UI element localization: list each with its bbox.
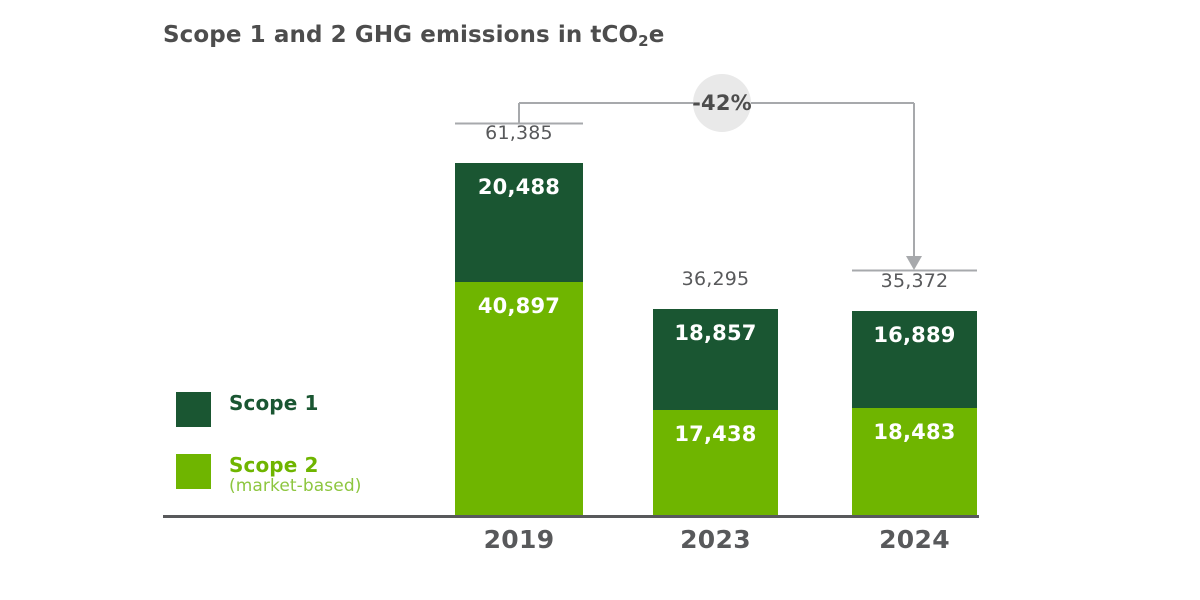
bar-segment-scope1[interactable]: 18,857 bbox=[653, 309, 778, 410]
legend-label-scope1: Scope 1 bbox=[229, 392, 318, 415]
legend-text-scope1: Scope 1 bbox=[229, 392, 318, 415]
bar-segment-scope2-label: 40,897 bbox=[455, 294, 583, 318]
annotation-badge-label: -42% bbox=[692, 91, 752, 115]
legend-swatch-scope1 bbox=[176, 392, 211, 427]
bar-segment-scope2-label: 18,483 bbox=[852, 420, 977, 444]
legend-item-scope2[interactable]: Scope 2 (market-based) bbox=[176, 454, 361, 497]
bar-segment-scope2[interactable]: 17,438 bbox=[653, 410, 778, 516]
chart-page: Scope 1 and 2 GHG emissions in tCO2e -42… bbox=[0, 0, 1200, 600]
page-title-suffix: e bbox=[649, 22, 665, 48]
legend-text-scope2: Scope 2 (market-based) bbox=[229, 454, 361, 497]
legend-swatch-scope2 bbox=[176, 454, 211, 489]
page-title-subscript: 2 bbox=[638, 32, 649, 50]
page-title: Scope 1 and 2 GHG emissions in tCO2e bbox=[163, 22, 664, 50]
bar-total-label: 61,385 bbox=[455, 122, 583, 144]
bar-segment-scope1-label: 16,889 bbox=[852, 323, 977, 347]
bar-group-2019[interactable]: 61,385 20,488 40,897 2019 bbox=[455, 163, 583, 516]
legend-label-scope2: Scope 2 bbox=[229, 454, 361, 477]
x-axis-label-2024: 2024 bbox=[838, 525, 991, 554]
bar-segment-scope2-label: 17,438 bbox=[653, 422, 778, 446]
x-axis-label-2019: 2019 bbox=[441, 525, 597, 554]
bar-segment-scope1[interactable]: 16,889 bbox=[852, 311, 977, 408]
bar-segment-scope1[interactable]: 20,488 bbox=[455, 163, 583, 282]
annotation-arrow-head bbox=[906, 256, 922, 270]
bar-group-2024[interactable]: 35,372 16,889 18,483 2024 bbox=[852, 311, 977, 516]
page-title-main: Scope 1 and 2 GHG emissions in tCO bbox=[163, 22, 638, 48]
legend-sublabel-scope2: (market-based) bbox=[229, 477, 361, 497]
bar-segment-scope1-label: 18,857 bbox=[653, 321, 778, 345]
annotation-badge-minus42: -42% bbox=[693, 74, 751, 132]
annotation-connectors bbox=[0, 0, 1200, 600]
bar-total-label: 35,372 bbox=[852, 270, 977, 292]
bar-segment-scope1-label: 20,488 bbox=[455, 175, 583, 199]
legend-item-scope1[interactable]: Scope 1 bbox=[176, 392, 318, 427]
x-axis-line bbox=[163, 515, 979, 518]
bar-group-2023[interactable]: 36,295 18,857 17,438 2023 bbox=[653, 309, 778, 516]
bar-segment-scope2[interactable]: 18,483 bbox=[852, 408, 977, 516]
bar-total-label: 36,295 bbox=[653, 268, 778, 290]
x-axis-label-2023: 2023 bbox=[639, 525, 792, 554]
bar-segment-scope2[interactable]: 40,897 bbox=[455, 282, 583, 516]
